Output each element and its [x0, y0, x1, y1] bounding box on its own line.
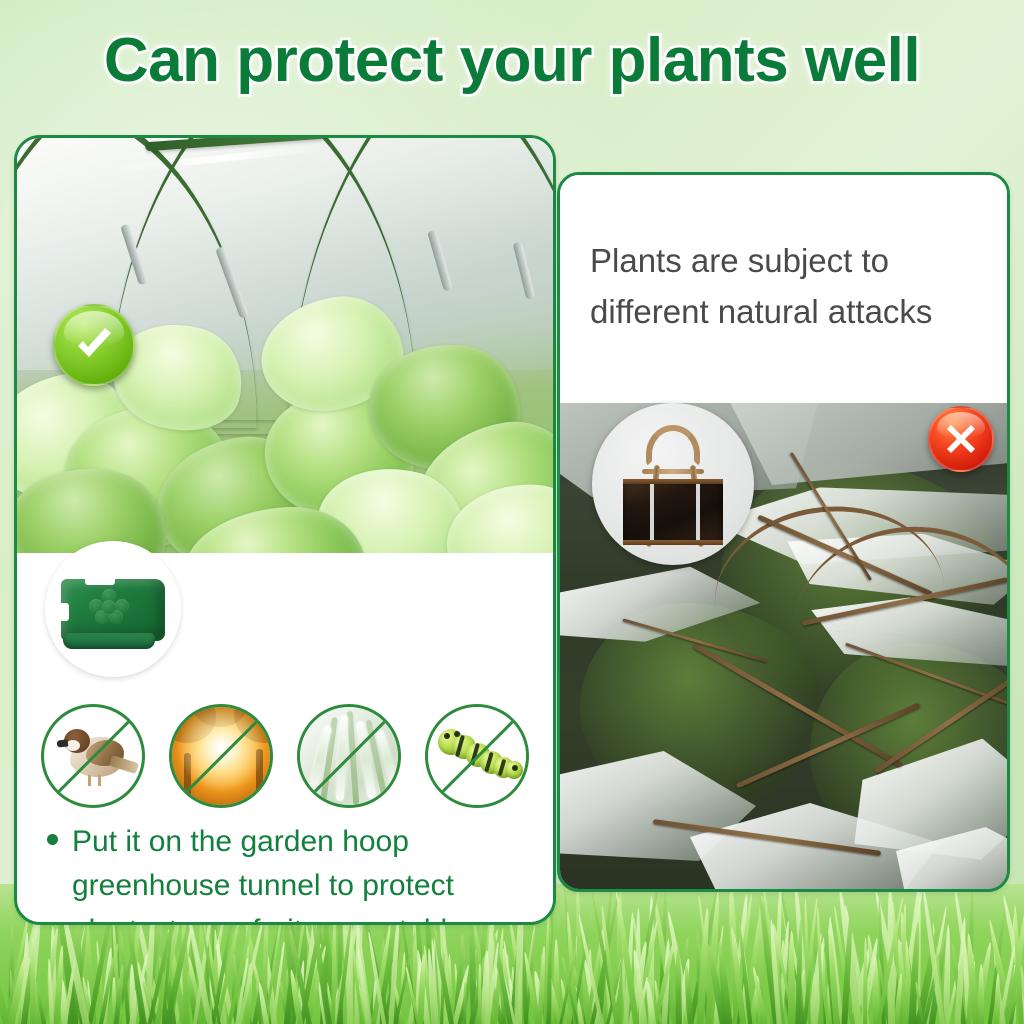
- right-caption-text: Plants are subject to different natural …: [590, 235, 977, 338]
- feature-bullet-text: Put it on the garden hoop greenhouse tun…: [72, 820, 531, 925]
- no-frost-icon: [297, 704, 401, 808]
- feature-bullet: Put it on the garden hoop greenhouse tun…: [17, 820, 553, 925]
- clip-jaw-edge: [623, 479, 723, 484]
- protection-icon-row: [17, 693, 553, 819]
- product-clip-inset: [45, 541, 181, 677]
- left-comparison-panel: Put it on the garden hoop greenhouse tun…: [14, 135, 556, 925]
- clip-notch-top: [85, 571, 115, 585]
- clip-jaw-divider: [650, 479, 654, 545]
- no-sunlight-icon: [169, 704, 273, 808]
- clip-jaw-divider: [696, 479, 700, 545]
- close-icon: [928, 406, 994, 472]
- right-caption: Plants are subject to different natural …: [560, 175, 1007, 403]
- clip-handle-loop: [646, 425, 700, 467]
- clip-notch-side: [53, 603, 69, 621]
- clip-lip: [63, 633, 155, 649]
- bullet-dot-icon: [47, 834, 58, 845]
- clip-jaw: [623, 479, 723, 545]
- grass-blade: [30, 938, 35, 1024]
- page-title-text: Can protect your plants well: [104, 25, 920, 96]
- product-infographic: Can protect your plants well: [0, 0, 1024, 1024]
- clip-flower-emboss: [89, 589, 129, 623]
- rusty-clip-inset: [592, 403, 754, 565]
- no-bird-icon: [41, 704, 145, 808]
- clip-jaw-edge: [623, 540, 723, 545]
- no-insect-icon: [425, 704, 529, 808]
- page-title: Can protect your plants well: [0, 12, 1024, 108]
- grass-blade: [675, 947, 682, 1024]
- check-icon: [53, 304, 135, 386]
